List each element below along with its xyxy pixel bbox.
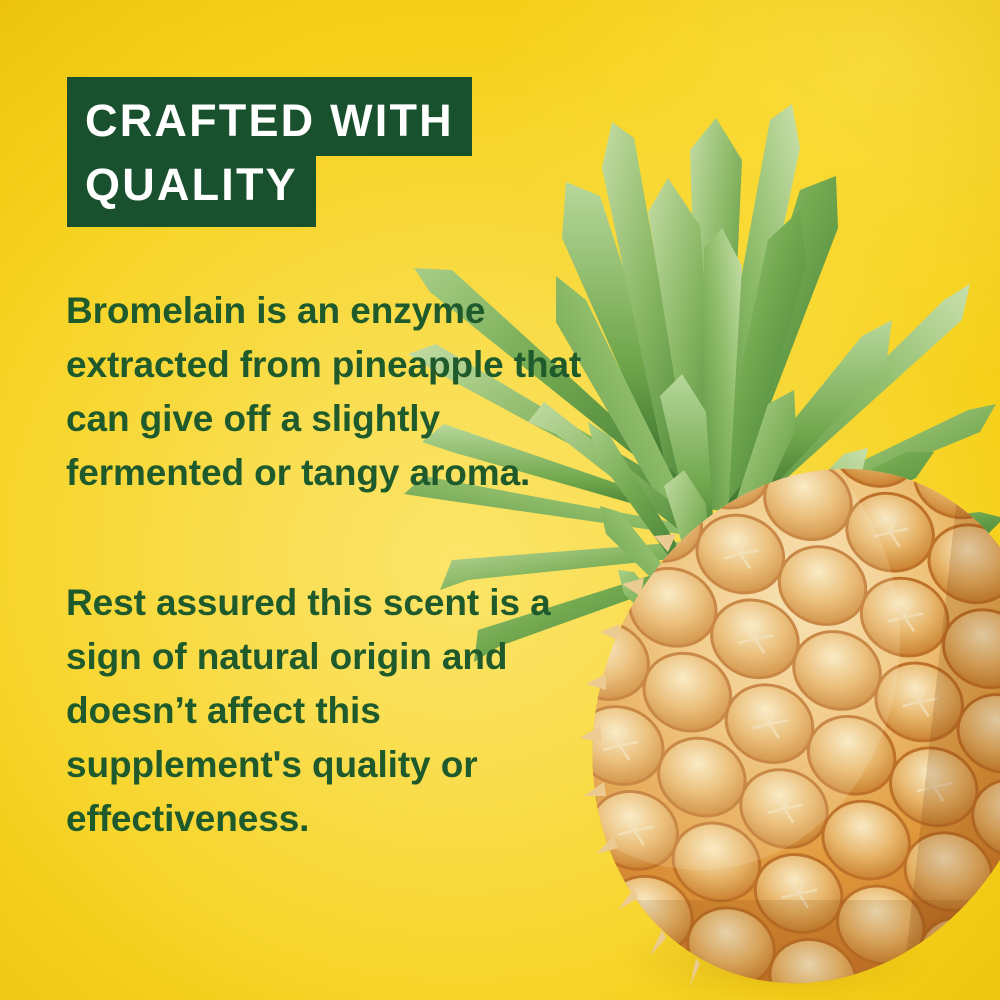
headline-line-2: QUALITY — [67, 156, 316, 227]
paragraph-1: Bromelain is an enzyme extracted from pi… — [66, 284, 586, 500]
promo-graphic: CRAFTED WITH QUALITY Bromelain is an enz… — [0, 0, 1000, 1000]
emphasis-text: doesn’t affect this supplement's quality… — [66, 690, 478, 839]
paragraph-2: Rest assured this scent is a sign of nat… — [66, 576, 586, 846]
body-copy: Bromelain is an enzyme extracted from pi… — [66, 284, 586, 846]
plain-text: and — [432, 636, 508, 677]
emphasis-text: natural origin — [197, 636, 432, 677]
headline-block: CRAFTED WITH QUALITY — [67, 77, 472, 227]
headline-line-1: CRAFTED WITH — [67, 77, 472, 156]
